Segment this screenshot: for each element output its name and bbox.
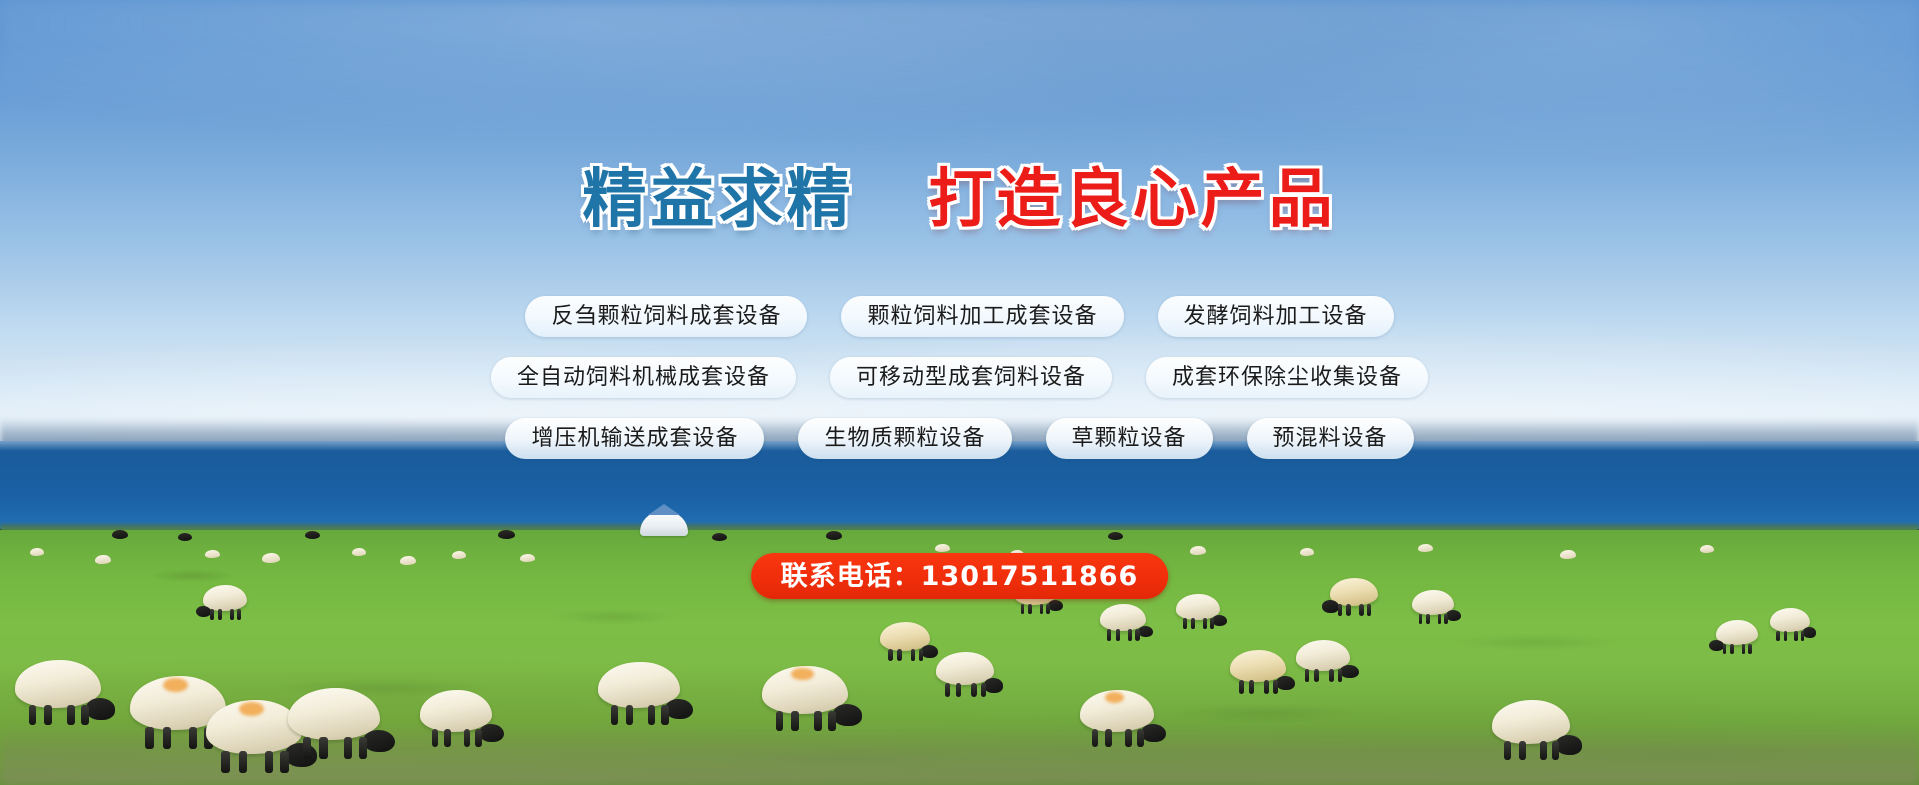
product-tag[interactable]: 预混料设备 xyxy=(1247,418,1414,459)
distant-sheep xyxy=(1300,548,1314,556)
sheep xyxy=(1330,578,1378,606)
sheep xyxy=(598,662,680,708)
distant-sheep xyxy=(452,551,466,559)
distant-sheep xyxy=(520,554,535,562)
distant-yak xyxy=(1108,532,1123,540)
product-tag-row-3: 增压机输送成套设备 生物质颗粒设备 草颗粒设备 预混料设备 xyxy=(505,418,1413,459)
headline-secondary: 打造良心产品 xyxy=(929,148,1337,240)
product-tag[interactable]: 反刍颗粒饲料成套设备 xyxy=(525,296,807,337)
distant-sheep xyxy=(30,548,44,556)
distant-sheep xyxy=(1190,546,1206,555)
distant-sheep xyxy=(262,553,280,563)
banner-root: 精益求精 打造良心产品 反刍颗粒饲料成套设备 颗粒饲料加工成套设备 发酵饲料加工… xyxy=(0,0,1919,785)
sheep xyxy=(1492,700,1570,744)
product-tag[interactable]: 全自动饲料机械成套设备 xyxy=(491,357,796,398)
headline-primary: 精益求精 xyxy=(582,148,854,240)
distant-sheep xyxy=(95,555,111,564)
headline: 精益求精 打造良心产品 xyxy=(0,148,1919,240)
distant-sheep xyxy=(400,556,416,565)
contact-phone-badge[interactable]: 联系电话：13017511866 xyxy=(751,553,1169,599)
sheep xyxy=(1176,594,1220,620)
sheep xyxy=(1230,650,1286,682)
distant-sheep xyxy=(1700,545,1714,553)
sheep xyxy=(1716,620,1758,645)
product-tag-row-1: 反刍颗粒饲料成套设备 颗粒饲料加工成套设备 发酵饲料加工设备 xyxy=(525,296,1393,337)
distant-yak xyxy=(712,533,727,541)
sheep xyxy=(288,688,380,740)
sheep xyxy=(203,585,247,611)
distant-sheep xyxy=(935,544,950,552)
product-tag[interactable]: 发酵饲料加工设备 xyxy=(1158,296,1394,337)
sheep xyxy=(15,660,101,708)
sheep xyxy=(880,622,930,651)
sheep xyxy=(762,666,848,714)
distant-sheep xyxy=(352,548,366,556)
product-tag[interactable]: 成套环保除尘收集设备 xyxy=(1146,357,1428,398)
sheep xyxy=(420,690,492,732)
distant-sheep xyxy=(1560,550,1576,559)
distant-sheep xyxy=(205,550,220,558)
sheep xyxy=(1296,640,1350,671)
sheep xyxy=(1080,690,1154,732)
product-tag[interactable]: 生物质颗粒设备 xyxy=(798,418,1011,459)
distant-yak xyxy=(826,531,842,540)
sheep xyxy=(1412,590,1454,615)
distant-yak xyxy=(498,530,515,539)
distant-sheep xyxy=(1418,544,1433,552)
product-tag-list: 反刍颗粒饲料成套设备 颗粒饲料加工成套设备 发酵饲料加工设备 全自动饲料机械成套… xyxy=(0,296,1919,459)
product-tag[interactable]: 可移动型成套饲料设备 xyxy=(830,357,1112,398)
product-tag[interactable]: 草颗粒设备 xyxy=(1046,418,1213,459)
product-tag[interactable]: 颗粒饲料加工成套设备 xyxy=(841,296,1123,337)
sheep xyxy=(936,652,994,685)
sheep xyxy=(1100,604,1146,631)
distant-yak xyxy=(305,531,320,539)
product-tag[interactable]: 增压机输送成套设备 xyxy=(505,418,764,459)
product-tag-row-2: 全自动饲料机械成套设备 可移动型成套饲料设备 成套环保除尘收集设备 xyxy=(491,357,1428,398)
distant-yak xyxy=(178,533,192,541)
distant-yak xyxy=(112,530,128,539)
sheep xyxy=(1770,608,1810,632)
